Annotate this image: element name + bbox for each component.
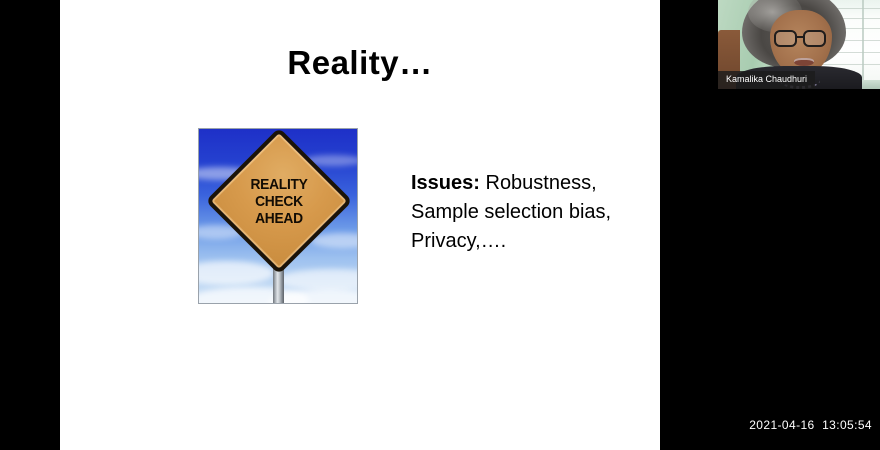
cloud-shape [277, 269, 358, 291]
recording-timestamp: 2021-04-16 13:05:54 [749, 418, 872, 432]
sign-line-1: REALITY [250, 176, 307, 193]
sign-line-3: AHEAD [255, 210, 303, 227]
glasses-right-lens [803, 30, 826, 47]
page-title: Reality… [60, 44, 660, 82]
presentation-slide: Reality… REALITY CHECK AHEAD Issues: Rob… [60, 0, 660, 450]
sign-line-2: CHECK [255, 193, 303, 210]
reality-check-sign-image: REALITY CHECK AHEAD [198, 128, 358, 304]
speaker-webcam-tile[interactable]: Kamalika Chaudhuri [718, 0, 880, 89]
participant-name-label: Kamalika Chaudhuri [718, 71, 815, 89]
glasses-left-lens [774, 30, 797, 47]
blind-slat [818, 64, 880, 65]
eyeglasses-icon [774, 30, 832, 47]
window-frame [862, 0, 864, 89]
issues-label: Issues: [411, 172, 480, 194]
slide-body-text: Issues: Robustness, Sample selection bia… [411, 169, 647, 256]
cloud-shape [198, 261, 274, 285]
speaker-mouth [794, 58, 814, 66]
sign-text-block: REALITY CHECK AHEAD [227, 149, 331, 253]
recording-canvas: Reality… REALITY CHECK AHEAD Issues: Rob… [0, 0, 880, 450]
